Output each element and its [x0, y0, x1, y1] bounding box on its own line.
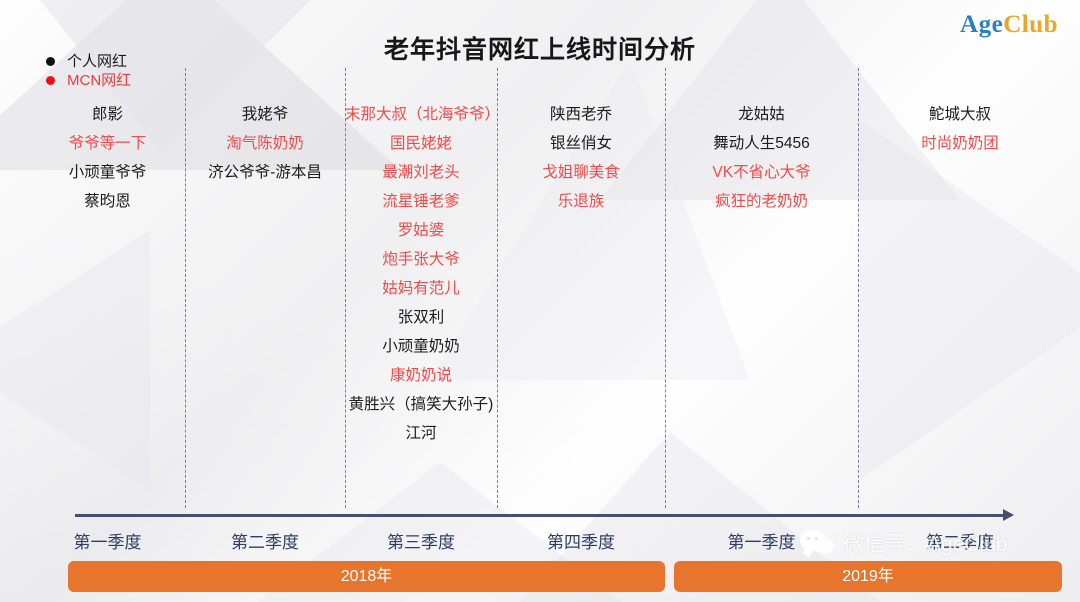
influencer-name: 最潮刘老头: [345, 158, 497, 187]
quarter-label: 第四季度: [497, 528, 665, 553]
page-title: 老年抖音网红上线时间分析: [0, 30, 1080, 66]
column-separator: [185, 68, 186, 508]
timeline-axis: [75, 514, 1005, 517]
influencer-name: 江河: [345, 419, 497, 448]
influencer-name: 龙姑姑: [665, 100, 858, 129]
year-bar: 2018年: [68, 561, 665, 592]
legend-item: 个人网红: [46, 52, 131, 71]
column-separator: [497, 68, 498, 508]
legend-item-label: 个人网红: [67, 52, 127, 71]
influencer-name: 戈姐聊美食: [497, 158, 665, 187]
column-separator: [345, 68, 346, 508]
timeline-column: 龙姑姑舞动人生5456VK不省心大爷疯狂的老奶奶: [665, 100, 858, 216]
timeline-column: 陕西老乔银丝俏女戈姐聊美食乐退族: [497, 100, 665, 216]
influencer-name: VK不省心大爷: [665, 158, 858, 187]
legend-item-label: MCN网红: [67, 71, 131, 90]
timeline-column: 鮀城大叔时尚奶奶团: [858, 100, 1062, 158]
influencer-name: 鮀城大叔: [858, 100, 1062, 129]
timeline-columns: 郎影爷爷等一下小顽童爷爷蔡昀恩我姥爷淘气陈奶奶济公爷爷-游本昌末那大叔（北海爷爷…: [0, 100, 1080, 500]
legend-dot-icon: [46, 76, 55, 85]
year-bars: 2018年2019年: [0, 561, 1080, 593]
influencer-name: 乐退族: [497, 187, 665, 216]
quarter-label: 第二季度: [858, 528, 1062, 553]
quarter-label: 第二季度: [185, 528, 345, 553]
influencer-name: 炮手张大爷: [345, 245, 497, 274]
timeline-column: 郎影爷爷等一下小顽童爷爷蔡昀恩: [30, 100, 185, 216]
influencer-name: 小顽童爷爷: [30, 158, 185, 187]
influencer-name: 爷爷等一下: [30, 129, 185, 158]
influencer-name: 蔡昀恩: [30, 187, 185, 216]
influencer-name: 国民姥姥: [345, 129, 497, 158]
quarter-label: 第一季度: [30, 528, 185, 553]
influencer-name: 末那大叔（北海爷爷）: [345, 100, 497, 129]
influencer-name: 陕西老乔: [497, 100, 665, 129]
year-bar: 2019年: [674, 561, 1062, 592]
column-separator: [858, 68, 859, 508]
quarter-labels: 第一季度第二季度第三季度第四季度第一季度第二季度: [0, 528, 1080, 558]
timeline-arrow-icon: [1003, 509, 1014, 521]
influencer-name: 流星锤老爹: [345, 187, 497, 216]
influencer-name: 小顽童奶奶: [345, 332, 497, 361]
influencer-name: 我姥爷: [185, 100, 345, 129]
quarter-label: 第一季度: [665, 528, 858, 553]
influencer-name: 时尚奶奶团: [858, 129, 1062, 158]
slide-canvas: AgeClub 老年抖音网红上线时间分析 个人网红MCN网红 郎影爷爷等一下小顽…: [0, 0, 1080, 602]
influencer-name: 郎影: [30, 100, 185, 129]
legend-dot-icon: [46, 57, 55, 66]
influencer-name: 康奶奶说: [345, 361, 497, 390]
influencer-name: 淘气陈奶奶: [185, 129, 345, 158]
influencer-name: 济公爷爷-游本昌: [185, 158, 345, 187]
influencer-name: 黄胜兴（搞笑大孙子): [345, 390, 497, 419]
influencer-name: 张双利: [345, 303, 497, 332]
quarter-label: 第三季度: [345, 528, 497, 553]
column-separator: [665, 68, 666, 508]
influencer-name: 姑妈有范儿: [345, 274, 497, 303]
influencer-name: 银丝俏女: [497, 129, 665, 158]
chart-legend: 个人网红MCN网红: [46, 52, 131, 90]
influencer-name: 疯狂的老奶奶: [665, 187, 858, 216]
timeline-column: 末那大叔（北海爷爷）国民姥姥最潮刘老头流星锤老爹罗姑婆炮手张大爷姑妈有范儿张双利…: [345, 100, 497, 448]
timeline-column: 我姥爷淘气陈奶奶济公爷爷-游本昌: [185, 100, 345, 187]
influencer-name: 罗姑婆: [345, 216, 497, 245]
influencer-name: 舞动人生5456: [665, 129, 858, 158]
legend-item: MCN网红: [46, 71, 131, 90]
